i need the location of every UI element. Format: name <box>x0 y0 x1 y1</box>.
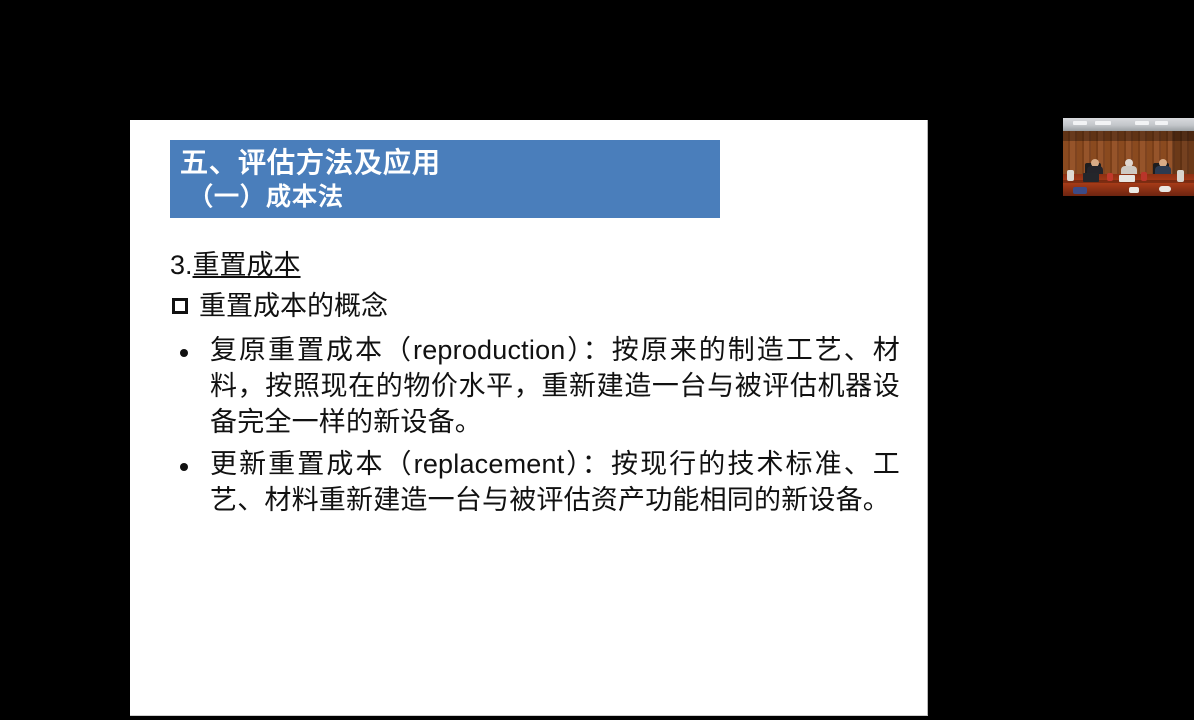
video-papers <box>1119 175 1135 182</box>
video-red-object <box>1141 172 1147 181</box>
classroom-camera-thumbnail[interactable] <box>1063 118 1194 196</box>
slide-body: 3.重置成本 重置成本的概念 复原重置成本（reproduction）：按原来的… <box>170 245 900 518</box>
presentation-slide: 五、评估方法及应用 （一）成本法 3.重置成本 重置成本的概念 复原重置成本（r… <box>130 120 928 716</box>
video-cup <box>1067 170 1074 181</box>
ceiling-light-icon <box>1135 121 1149 125</box>
slide-heading-3: 3.重置成本 <box>170 245 900 285</box>
video-laptop <box>1083 173 1099 182</box>
heading-number: 3. <box>170 250 193 280</box>
subheading-text: 重置成本的概念 <box>199 286 900 326</box>
screen-root: 五、评估方法及应用 （一）成本法 3.重置成本 重置成本的概念 复原重置成本（r… <box>0 0 1194 720</box>
round-bullet-icon <box>180 349 188 357</box>
slide-bullet-reproduction: 复原重置成本（reproduction）：按原来的制造工艺、材料，按照现在的物价… <box>170 332 900 440</box>
slide-title-secondary: （一）成本法 <box>180 181 720 214</box>
slide-subheading-concept: 重置成本的概念 <box>170 286 900 326</box>
video-mouse <box>1159 186 1171 192</box>
ceiling-light-icon <box>1073 121 1087 125</box>
video-bottle <box>1177 170 1184 182</box>
hollow-square-bullet-icon <box>172 298 188 314</box>
bullet-text-replacement: 更新重置成本（replacement）：按现行的技术标准、工艺、材料重新建造一台… <box>210 446 900 518</box>
ceiling-light-icon <box>1095 121 1111 125</box>
round-bullet-icon <box>180 463 188 471</box>
heading-term: 重置成本 <box>193 250 301 280</box>
slide-title-primary: 五、评估方法及应用 <box>180 145 720 181</box>
bullet-text-reproduction: 复原重置成本（reproduction）：按原来的制造工艺、材料，按照现在的物价… <box>210 332 900 440</box>
slide-title-banner: 五、评估方法及应用 （一）成本法 <box>170 140 720 218</box>
slide-bullet-replacement: 更新重置成本（replacement）：按现行的技术标准、工艺、材料重新建造一台… <box>170 446 900 518</box>
video-blue-object <box>1073 187 1087 194</box>
video-white-object <box>1129 187 1139 193</box>
video-red-object <box>1107 173 1113 181</box>
ceiling-light-icon <box>1155 121 1168 125</box>
